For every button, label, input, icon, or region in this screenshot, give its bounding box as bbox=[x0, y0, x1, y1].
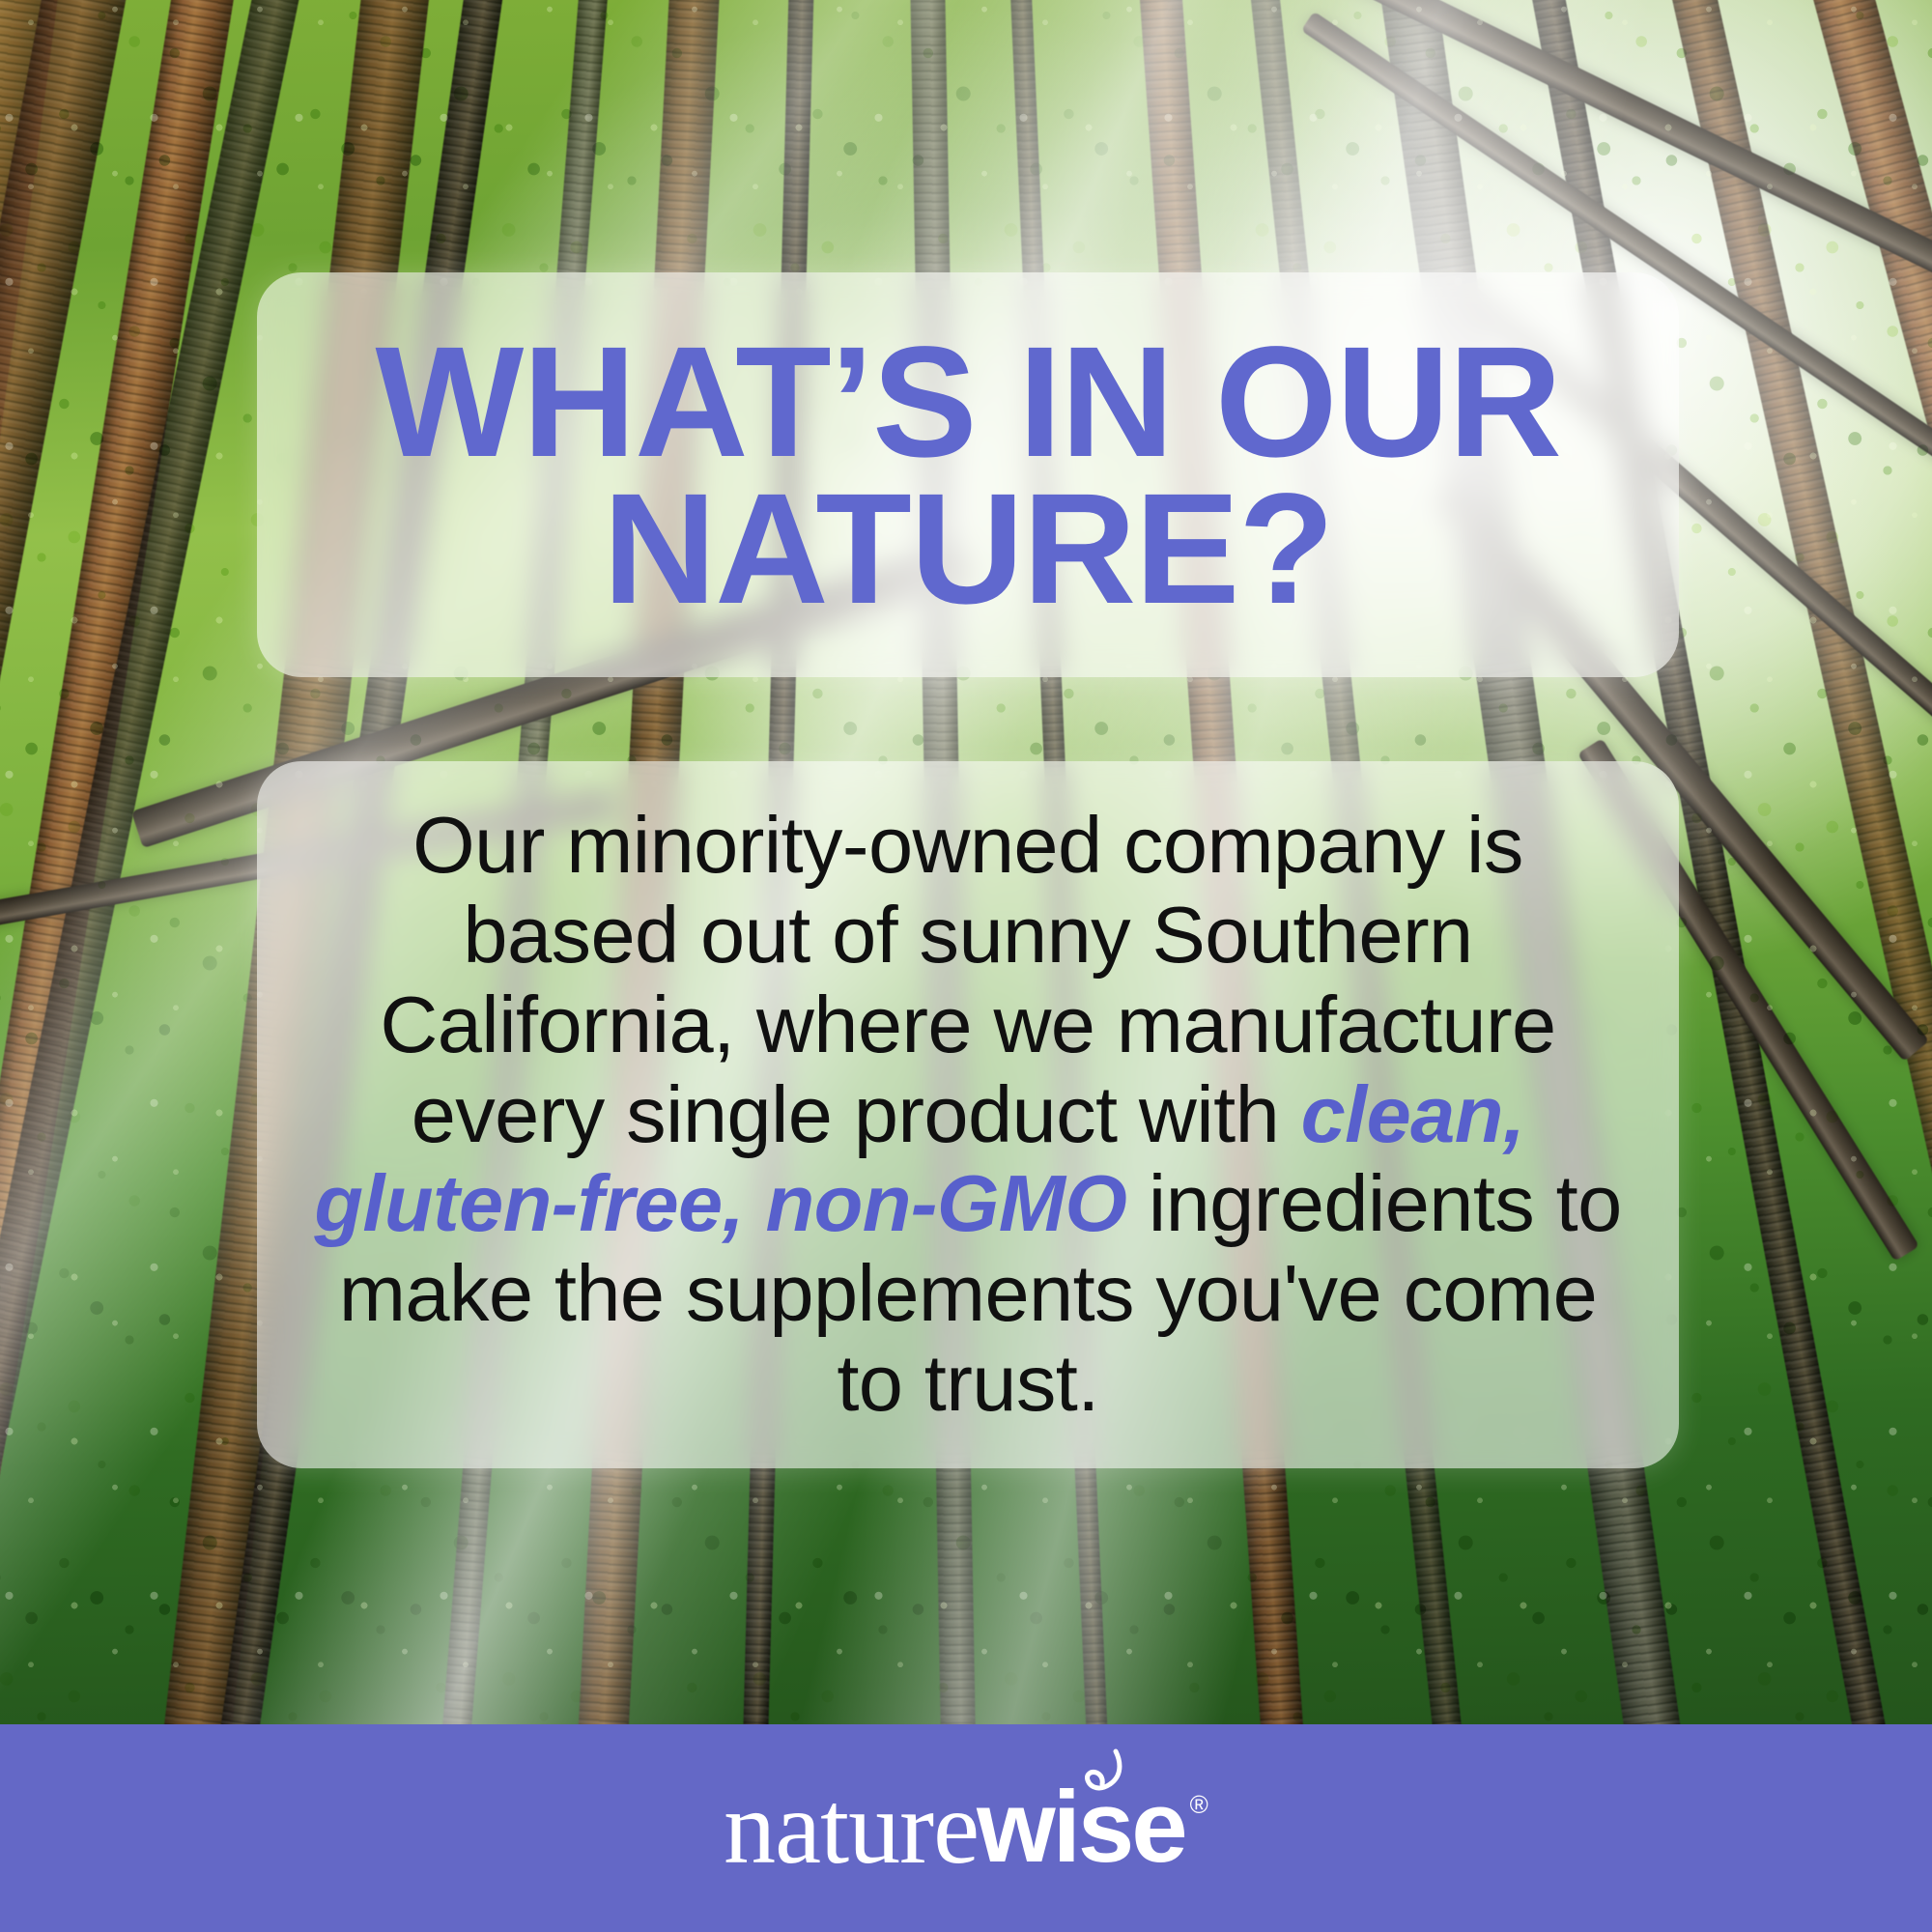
logo-word-nature: nature bbox=[724, 1776, 979, 1881]
page-title: WHAT’S IN OUR NATURE? bbox=[303, 328, 1633, 621]
poster-canvas: WHAT’S IN OUR NATURE? Our minority-owned… bbox=[0, 0, 1932, 1932]
leaf-icon bbox=[1083, 1747, 1125, 1802]
headline-line-2: NATURE? bbox=[603, 460, 1333, 637]
registered-trademark-mark: ® bbox=[1190, 1792, 1208, 1817]
brand-footer-bar: naturewise® bbox=[0, 1724, 1932, 1932]
body-paragraph: Our minority-owned company is based out … bbox=[301, 801, 1634, 1430]
logo-word-wise: wise bbox=[977, 1776, 1185, 1878]
naturewise-logo[interactable]: naturewise® bbox=[724, 1776, 1208, 1881]
headline-card: WHAT’S IN OUR NATURE? bbox=[257, 272, 1679, 677]
body-copy-card: Our minority-owned company is based out … bbox=[257, 761, 1679, 1468]
